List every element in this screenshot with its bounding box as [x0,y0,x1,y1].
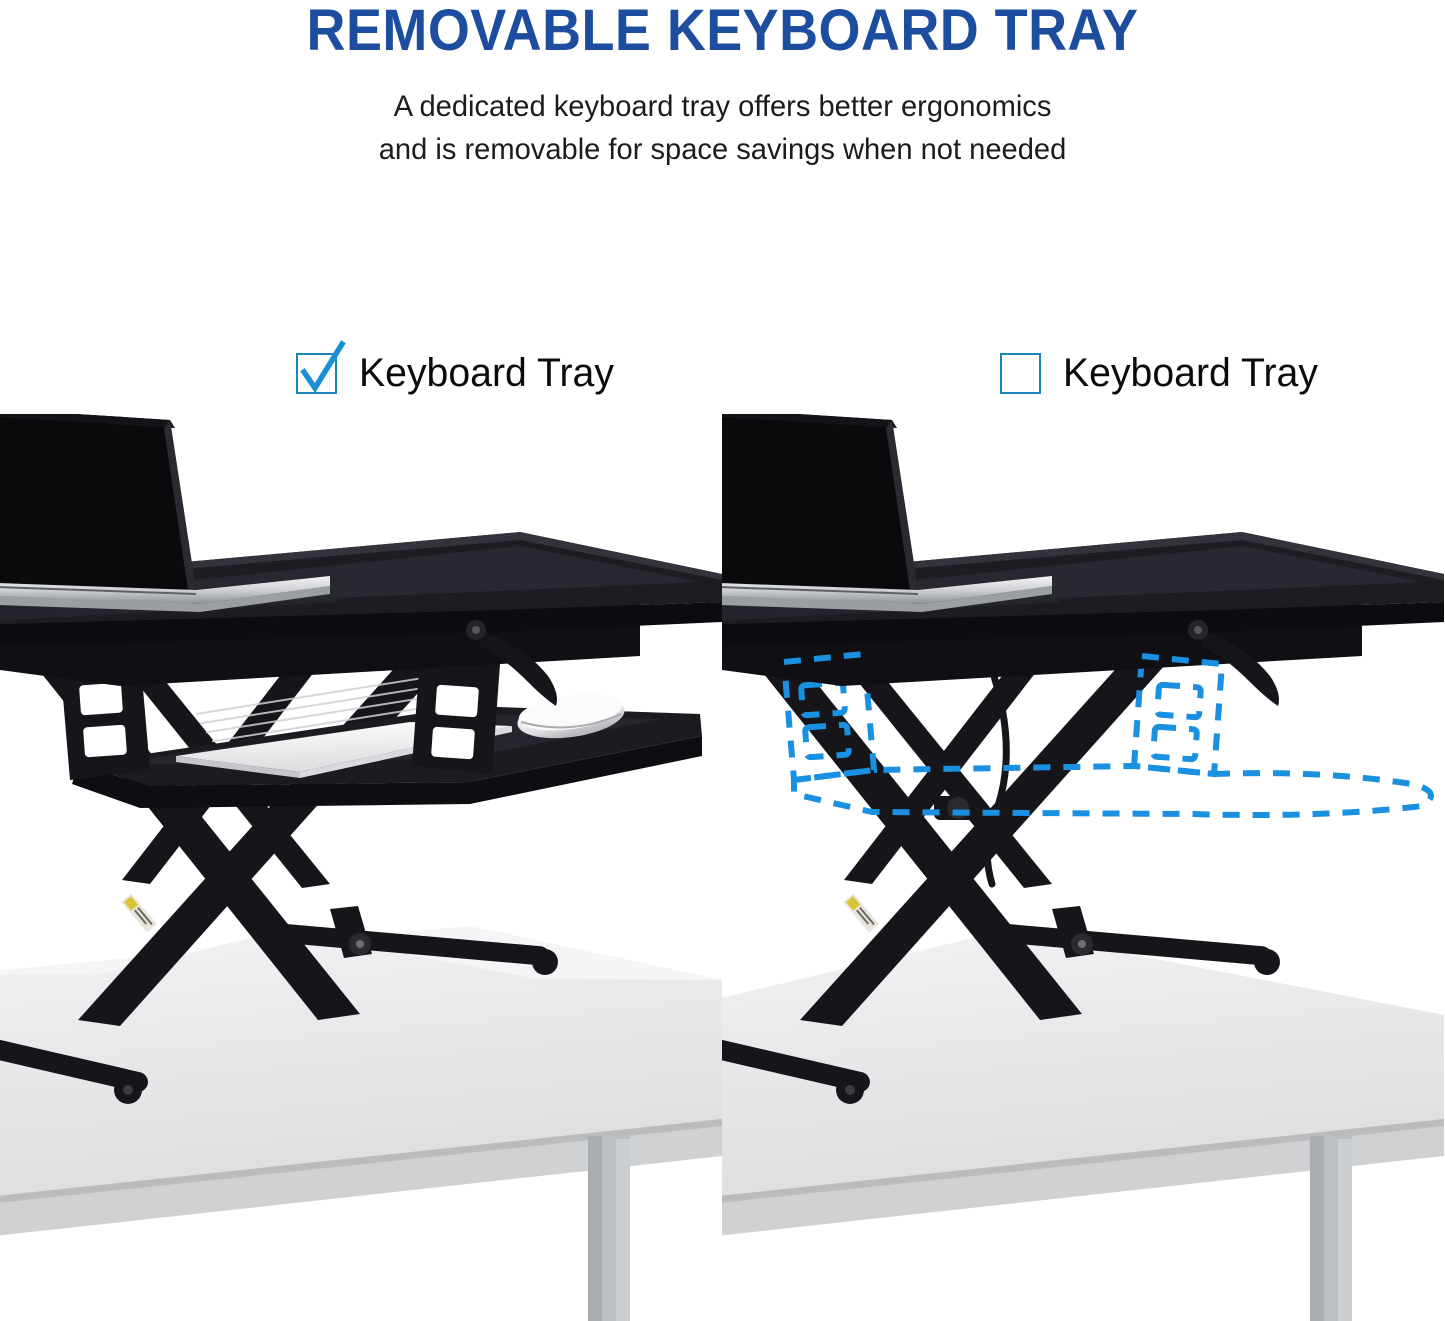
product-photo-with-tray [0,414,722,1321]
laptop-left [0,414,330,612]
subtitle: A dedicated keyboard tray offers better … [22,60,1424,172]
header: REMOVABLE KEYBOARD TRAY A dedicated keyb… [0,0,1445,172]
page-title: REMOVABLE KEYBOARD TRAY [51,0,1395,60]
product-photo-without-tray [722,414,1444,1321]
comparison-label-right: Keyboard Tray [1063,351,1318,396]
comparison-option-with-tray[interactable]: Keyboard Tray [296,338,619,408]
checkbox-checked-icon[interactable] [296,353,337,394]
comparison-option-without-tray[interactable]: Keyboard Tray [1000,338,1323,408]
checkbox-unchecked-icon[interactable] [1000,353,1041,394]
subtitle-line-2: and is removable for space savings when … [22,129,1424,172]
comparison-label-left: Keyboard Tray [359,351,614,396]
subtitle-line-1: A dedicated keyboard tray offers better … [22,86,1424,129]
product-photo-row [0,414,1445,1321]
comparison-labels-row: Keyboard Tray Keyboard Tray [0,338,1445,408]
laptop-right [722,414,1052,612]
